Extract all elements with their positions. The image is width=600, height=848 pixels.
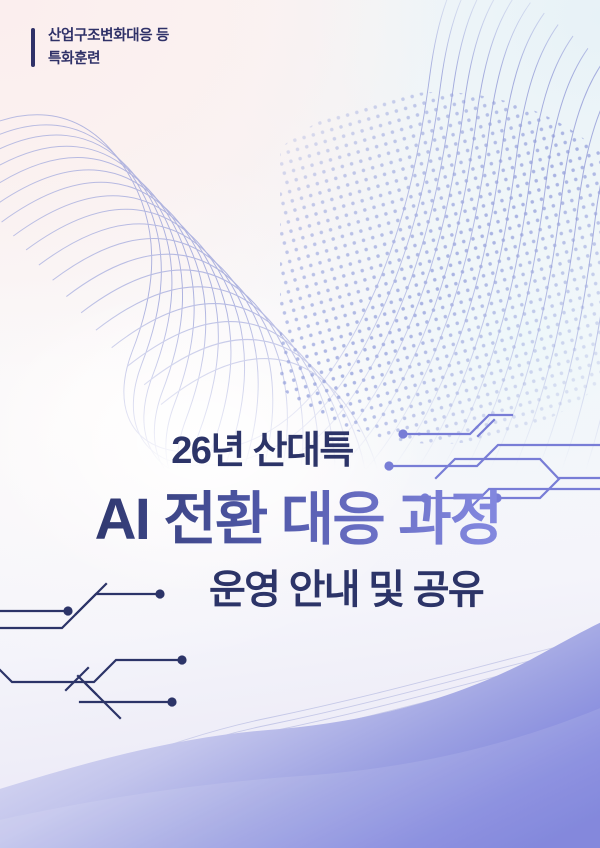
title-kicker: 26년 산대특 (0, 432, 600, 470)
background-glow-center (0, 0, 600, 848)
circuit-traces-left (0, 0, 600, 848)
bottom-gradient-wave (0, 0, 600, 848)
header: 산업구조변화대응 등 특화훈련 (31, 28, 169, 67)
title-main: AI 전환 대응 과정 (0, 490, 600, 550)
circuit-traces-right (0, 0, 600, 848)
header-line-2: 특화훈련 (48, 51, 169, 67)
flowing-wave-lines (0, 0, 600, 848)
poster-canvas: 산업구조변화대응 등 특화훈련 (0, 0, 600, 848)
halftone-dot-field (0, 0, 600, 848)
header-line-1: 산업구조변화대응 등 (48, 28, 169, 44)
title-sub: 운영 안내 및 공유 (92, 570, 600, 610)
background-base-gradient (0, 0, 600, 848)
title-block: 26년 산대특 AI 전환 대응 과정 운영 안내 및 공유 (0, 432, 600, 610)
background-glow-right (0, 0, 600, 848)
header-accent-bar (31, 28, 35, 67)
header-text-group: 산업구조변화대응 등 특화훈련 (48, 28, 169, 67)
